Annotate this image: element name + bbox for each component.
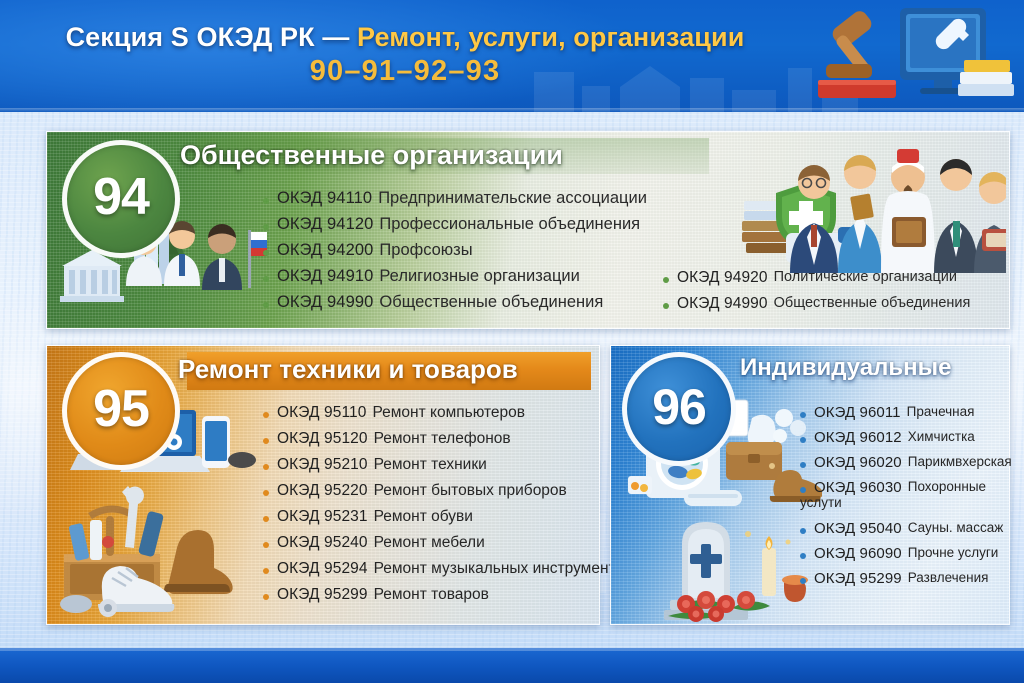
oked-desc: Ремонт техники [374, 457, 487, 473]
oked-desc: Ремонт товаров [374, 587, 489, 603]
bullet-dot-icon [800, 487, 806, 493]
bullet-dot-icon [263, 412, 269, 418]
oked-code: ОКЭД 94200 [277, 242, 373, 259]
list-item[interactable]: ОКЭД 94200Профсоюзы [263, 242, 647, 259]
oked-code: ОКЭД 95231 [277, 509, 368, 525]
bullet-dot-icon [263, 594, 269, 600]
list-item[interactable]: ОКЭД 96020Парикмвхерская [800, 455, 1012, 470]
list-item[interactable]: ОКЭД 95120Ремонт телефонов [263, 431, 633, 447]
oked-desc: Прачечная [907, 405, 975, 419]
list-item[interactable]: ОКЭД 95110Ремонт компьютеров [263, 405, 633, 421]
oked-desc: Ремонт музыкальных инструментоб [374, 561, 633, 577]
section-96-list: ОКЭД 96011Прачечная ОКЭД 96012Химчистка … [800, 405, 1012, 596]
bullet-dot-icon [800, 437, 806, 443]
oked-desc: Общественные объединения [379, 294, 603, 311]
list-item[interactable]: ОКЭД 94990Общественные объединения [263, 294, 647, 311]
oked-desc: Химчистка [908, 430, 975, 444]
oked-desc: Ремонт компьютеров [372, 405, 525, 421]
oked-desc: Профессиональные объединения [379, 216, 640, 233]
oked-code: ОКЭД 95040 [814, 521, 902, 536]
oked-code: ОКЭД 94110 [277, 190, 372, 207]
list-item[interactable]: ОКЭД 95220Ремонт бытовых приборов [263, 483, 633, 499]
bullet-dot-icon [263, 516, 269, 522]
list-item[interactable]: ОКЭД 96090Прочне услуги [800, 546, 1012, 561]
oked-code: ОКЭД 94910 [277, 268, 373, 285]
bullet-dot-icon [263, 438, 269, 444]
section-94-number: 94 [93, 167, 149, 227]
bullet-dot-icon [263, 542, 269, 548]
oked-code: ОКЭД 96020 [814, 455, 902, 470]
header-illustration [796, 2, 1016, 112]
list-item[interactable]: ОКЭД 95294Ремонт музыкальных инструменто… [263, 561, 633, 577]
oked-desc: Ремонт телефонов [374, 431, 511, 447]
oked-code: ОКЭД 96012 [814, 430, 902, 445]
oked-code: ОКЭД 94990 [677, 296, 768, 312]
oked-code: ОКЭД 94920 [677, 270, 768, 286]
list-item[interactable]: ОКЭД 95299Развлечения [800, 571, 1012, 586]
list-item[interactable]: ОКЭД 96011Прачечная [800, 405, 1012, 420]
bullet-dot-icon [663, 277, 669, 283]
bullet-dot-icon [263, 198, 269, 204]
oked-desc: Парикмвхерская [908, 455, 1012, 469]
header-subtitle: 90–91–92–93 [0, 57, 810, 87]
bullet-dot-icon [263, 490, 269, 496]
header-title-yellow: Ремонт, услуги, организации [357, 22, 744, 52]
oked-code: ОКЭД 95240 [277, 535, 368, 551]
bullet-dot-icon [800, 528, 806, 534]
list-item[interactable]: ОКЭД 96012Химчистка [800, 430, 1012, 445]
section-96-number-badge: 96 [622, 352, 736, 466]
list-item[interactable]: ОКЭД 95040Сауны. массаж [800, 521, 1012, 536]
oked-code: ОКЭД 95210 [277, 457, 368, 473]
bullet-dot-icon [263, 276, 269, 282]
section-95-number-badge: 95 [62, 352, 180, 470]
bullet-dot-icon [800, 578, 806, 584]
bullet-dot-icon [263, 302, 269, 308]
oked-desc: Прочне услуги [908, 546, 999, 560]
bullet-dot-icon [263, 224, 269, 230]
bullet-dot-icon [263, 464, 269, 470]
oked-code: ОКЭД 95299 [277, 587, 368, 603]
bullet-dot-icon [800, 553, 806, 559]
header-banner: Секция S ОКЭД РК — Ремонт, услуги, орган… [0, 0, 1024, 112]
oked-code: ОКЭД 95110 [277, 405, 366, 421]
oked-desc: Политические организации [774, 270, 957, 285]
section-95-list: ОКЭД 95110Ремонт компьютеров ОКЭД 95120Р… [263, 405, 633, 613]
oked-code: ОКЭД 96011 [814, 405, 901, 420]
oked-code: ОКЭД 94990 [277, 294, 373, 311]
list-item[interactable]: ОКЭД 96030Похоронные услути [800, 480, 1012, 511]
oked-code: ОКЭД 95294 [277, 561, 368, 577]
list-item[interactable]: ОКЭД 94110Предпринимательские ассоциации [263, 190, 647, 207]
list-item[interactable]: ОКЭД 94990Общественные объединения [663, 296, 970, 312]
list-item[interactable]: ОКЭД 95299Ремонт товаров [263, 587, 633, 603]
section-94-list-right: ОКЭД 94920Политические организации ОКЭД … [663, 270, 970, 321]
bullet-dot-icon [263, 568, 269, 574]
oked-desc: Ремонт обуви [374, 509, 473, 525]
oked-code: ОКЭД 94120 [277, 216, 373, 233]
bullet-dot-icon [800, 462, 806, 468]
oked-desc: Ремонт мебели [374, 535, 485, 551]
list-item[interactable]: ОКЭД 95231Ремонт обуви [263, 509, 633, 525]
list-item[interactable]: ОКЭД 95240Ремонт мебели [263, 535, 633, 551]
oked-desc: Развлечения [908, 571, 989, 585]
oked-desc: Профсоюзы [379, 242, 472, 259]
oked-desc: Ремонт бытовых приборов [374, 483, 567, 499]
list-item[interactable]: ОКЭД 94120Профессиональные объединения [263, 216, 647, 233]
oked-desc: Общественные объединения [774, 296, 971, 311]
section-95-title: Ремонт техники и товаров [178, 354, 518, 385]
header-title-white: Секция S ОКЭД РК — [66, 22, 357, 52]
oked-desc: Похоронные [908, 480, 986, 494]
oked-code: ОКЭД 95299 [814, 571, 902, 586]
list-item[interactable]: ОКЭД 95210Ремонт техники [263, 457, 633, 473]
oked-code: ОКЭД 96030 [814, 480, 902, 495]
bullet-dot-icon [663, 303, 669, 309]
bullet-dot-icon [800, 412, 806, 418]
oked-desc: Религиозные организации [379, 268, 579, 285]
gavel-icon [826, 8, 875, 79]
header-text-block: Секция S ОКЭД РК — Ремонт, услуги, орган… [0, 24, 810, 86]
header-title: Секция S ОКЭД РК — Ремонт, услуги, орган… [0, 24, 810, 52]
oked-code: ОКЭД 96090 [814, 546, 902, 561]
oked-desc: Сауны. массаж [908, 521, 1004, 535]
oked-desc: Предпринимательские ассоциации [378, 190, 647, 207]
oked-code: ОКЭД 95220 [277, 483, 368, 499]
section-94-number-badge: 94 [62, 140, 180, 258]
oked-code: ОКЭД 95120 [277, 431, 368, 447]
section-94-title: Общественные организации [180, 140, 563, 171]
section-96-title: Индивидуальные [740, 354, 952, 382]
footer-band [0, 648, 1024, 683]
infographic-poster: Секция S ОКЭД РК — Ремонт, услуги, орган… [0, 0, 1024, 683]
section-96-number: 96 [652, 378, 706, 436]
section-94-list-left: ОКЭД 94110Предпринимательские ассоциации… [263, 190, 647, 320]
list-item[interactable]: ОКЭД 94910Религиозные организации [263, 268, 647, 285]
list-item[interactable]: ОКЭД 94920Политические организации [663, 270, 970, 286]
oked-desc-line2: услути [800, 495, 860, 510]
bullet-dot-icon [263, 250, 269, 256]
section-95-number: 95 [93, 379, 149, 439]
